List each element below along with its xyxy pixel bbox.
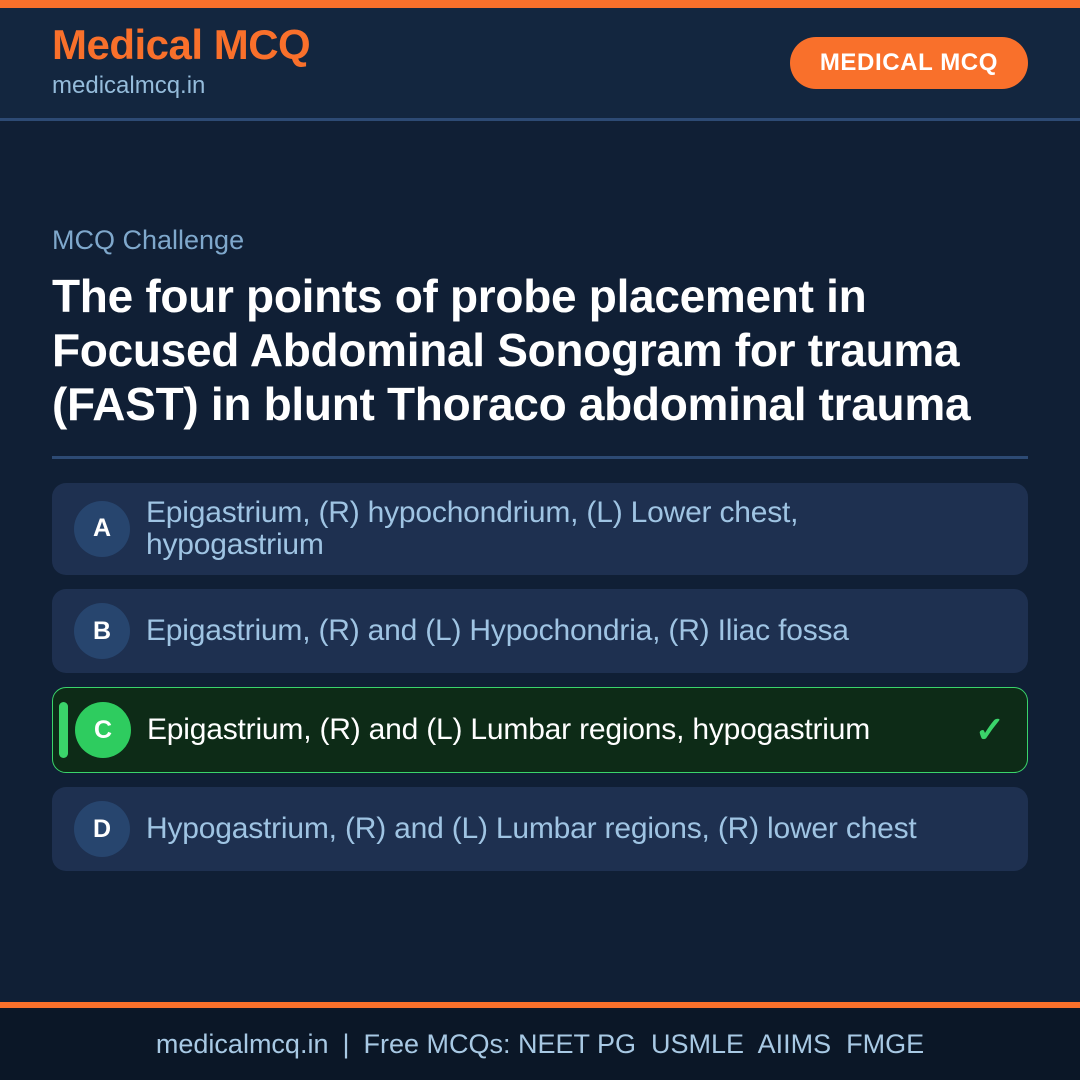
eyebrow-label: MCQ Challenge bbox=[52, 224, 1028, 256]
option-letter-badge: A bbox=[74, 501, 130, 557]
mcq-card: Medical MCQ medicalmcq.in MEDICAL MCQ MC… bbox=[0, 0, 1080, 1080]
check-icon: ✓ bbox=[975, 712, 1005, 748]
question-text: The four points of probe placement in Fo… bbox=[52, 270, 1028, 431]
option-letter-badge: D bbox=[74, 801, 130, 857]
brand-subtitle: medicalmcq.in bbox=[52, 70, 310, 102]
header-badge: MEDICAL MCQ bbox=[790, 37, 1028, 89]
option-text: Epigastrium, (R) hypochondrium, (L) Lowe… bbox=[146, 497, 962, 561]
option-a[interactable]: A Epigastrium, (R) hypochondrium, (L) Lo… bbox=[52, 483, 1028, 575]
section-divider bbox=[52, 456, 1028, 459]
main-content: MCQ Challenge The four points of probe p… bbox=[0, 121, 1080, 1002]
brand-title: Medical MCQ bbox=[52, 24, 310, 67]
option-text: Epigastrium, (R) and (L) Hypochondria, (… bbox=[146, 615, 962, 647]
option-text: Epigastrium, (R) and (L) Lumbar regions,… bbox=[147, 714, 961, 746]
brand-block: Medical MCQ medicalmcq.in bbox=[52, 24, 310, 102]
footer: medicalmcq.in | Free MCQs: NEET PG USMLE… bbox=[0, 1008, 1080, 1080]
option-letter-badge: B bbox=[74, 603, 130, 659]
options-list: A Epigastrium, (R) hypochondrium, (L) Lo… bbox=[52, 483, 1028, 871]
footer-separator: | bbox=[328, 1029, 363, 1060]
option-text: Hypogastrium, (R) and (L) Lumbar regions… bbox=[146, 813, 962, 845]
option-letter-badge: C bbox=[75, 702, 131, 758]
top-accent-bar bbox=[0, 0, 1080, 8]
option-b[interactable]: B Epigastrium, (R) and (L) Hypochondria,… bbox=[52, 589, 1028, 673]
option-c[interactable]: C Epigastrium, (R) and (L) Lumbar region… bbox=[52, 687, 1028, 773]
correct-accent-bar bbox=[59, 702, 68, 758]
footer-site: medicalmcq.in bbox=[156, 1029, 329, 1060]
option-d[interactable]: D Hypogastrium, (R) and (L) Lumbar regio… bbox=[52, 787, 1028, 871]
header: Medical MCQ medicalmcq.in MEDICAL MCQ bbox=[0, 8, 1080, 121]
content-inner: MCQ Challenge The four points of probe p… bbox=[52, 224, 1028, 871]
footer-tagline: Free MCQs: NEET PG USMLE AIIMS FMGE bbox=[363, 1029, 924, 1060]
